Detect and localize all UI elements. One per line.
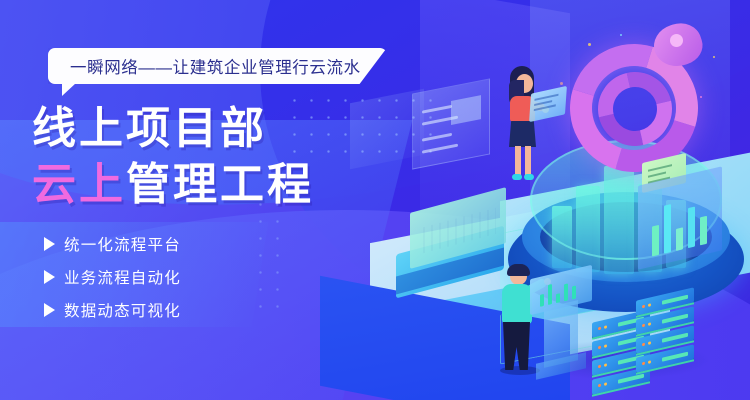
status-led-icon <box>648 360 651 364</box>
chart-bar <box>548 284 552 305</box>
chart-bar <box>664 204 671 254</box>
leg <box>525 146 531 176</box>
legs <box>503 322 530 370</box>
status-led-icon <box>648 303 651 307</box>
list-item-label: 业务流程自动化 <box>64 266 181 288</box>
list-item: 统一化流程平台 <box>44 233 181 255</box>
chart-bar <box>676 227 683 251</box>
control-console <box>530 272 592 368</box>
skirt <box>509 121 536 147</box>
chart-bar <box>700 216 707 246</box>
server-strip <box>662 295 688 305</box>
play-triangle-icon <box>44 237 55 251</box>
list-item: 数据动态可视化 <box>44 299 181 321</box>
list-item: 业务流程自动化 <box>44 266 181 288</box>
server-strip <box>662 333 688 343</box>
woman-with-tablet <box>500 66 560 184</box>
server-strip <box>662 352 688 362</box>
panel-thumbnail <box>451 95 481 125</box>
headline-accent-text: 云上 <box>32 160 126 209</box>
panel-line <box>422 105 452 114</box>
chart-bar <box>572 286 576 300</box>
dot-grid-pattern-secondary <box>252 196 286 316</box>
status-led-icon <box>604 382 607 386</box>
panel-line <box>422 144 458 154</box>
status-led-icon <box>648 341 651 345</box>
tagline-text: 一瞬网络——让建筑企业管理行云流水 <box>70 54 361 78</box>
shoe <box>512 174 522 180</box>
note-line <box>648 164 672 172</box>
tablet-line <box>534 94 558 101</box>
chart-bar <box>652 225 659 257</box>
console-screen <box>530 265 592 315</box>
chart-bar <box>564 283 568 301</box>
server-strip <box>618 374 644 384</box>
leg <box>515 146 521 176</box>
chart-bar <box>688 207 695 249</box>
tagline-bubble: 一瞬网络——让建筑企业管理行云流水 <box>48 48 387 84</box>
list-item-label: 统一化流程平台 <box>64 233 181 255</box>
status-led-icon <box>598 327 601 331</box>
panel-line <box>422 133 452 142</box>
status-led-icon <box>642 324 645 328</box>
status-led-icon <box>598 384 601 388</box>
play-triangle-icon <box>44 303 55 317</box>
headline-line-1: 线上项目部 <box>32 103 314 155</box>
status-led-icon <box>642 362 645 366</box>
swirl-highlight-dot <box>670 34 683 47</box>
play-triangle-icon <box>44 270 55 284</box>
marketing-banner: 一瞬网络——让建筑企业管理行云流水 线上项目部 云上管理工程 统一化流程平台 业… <box>0 0 750 400</box>
hair <box>507 264 530 276</box>
page-title: 线上项目部 云上管理工程 <box>32 103 314 211</box>
status-led-icon <box>598 365 601 369</box>
chart-bar <box>556 293 560 303</box>
server-racks <box>592 282 722 398</box>
headline-line-2: 云上管理工程 <box>32 159 314 211</box>
shoe <box>524 174 534 180</box>
chart-bar <box>540 294 544 307</box>
note-line <box>648 172 666 178</box>
status-led-icon <box>604 344 607 348</box>
tagline-bubble-tail <box>62 83 76 96</box>
status-led-icon <box>604 325 607 329</box>
headline-rest-text: 管理工程 <box>126 160 314 209</box>
status-led-icon <box>642 305 645 309</box>
status-led-icon <box>648 322 651 326</box>
feature-list: 统一化流程平台 业务流程自动化 数据动态可视化 <box>44 233 181 332</box>
server-strip <box>662 314 688 324</box>
dashboard-glass-panel <box>412 78 490 169</box>
hero-illustration <box>380 0 750 400</box>
list-item-label: 数据动态可视化 <box>64 299 181 321</box>
status-led-icon <box>598 346 601 350</box>
status-led-icon <box>642 343 645 347</box>
line-chart-graphic <box>420 208 496 254</box>
status-led-icon <box>604 363 607 367</box>
